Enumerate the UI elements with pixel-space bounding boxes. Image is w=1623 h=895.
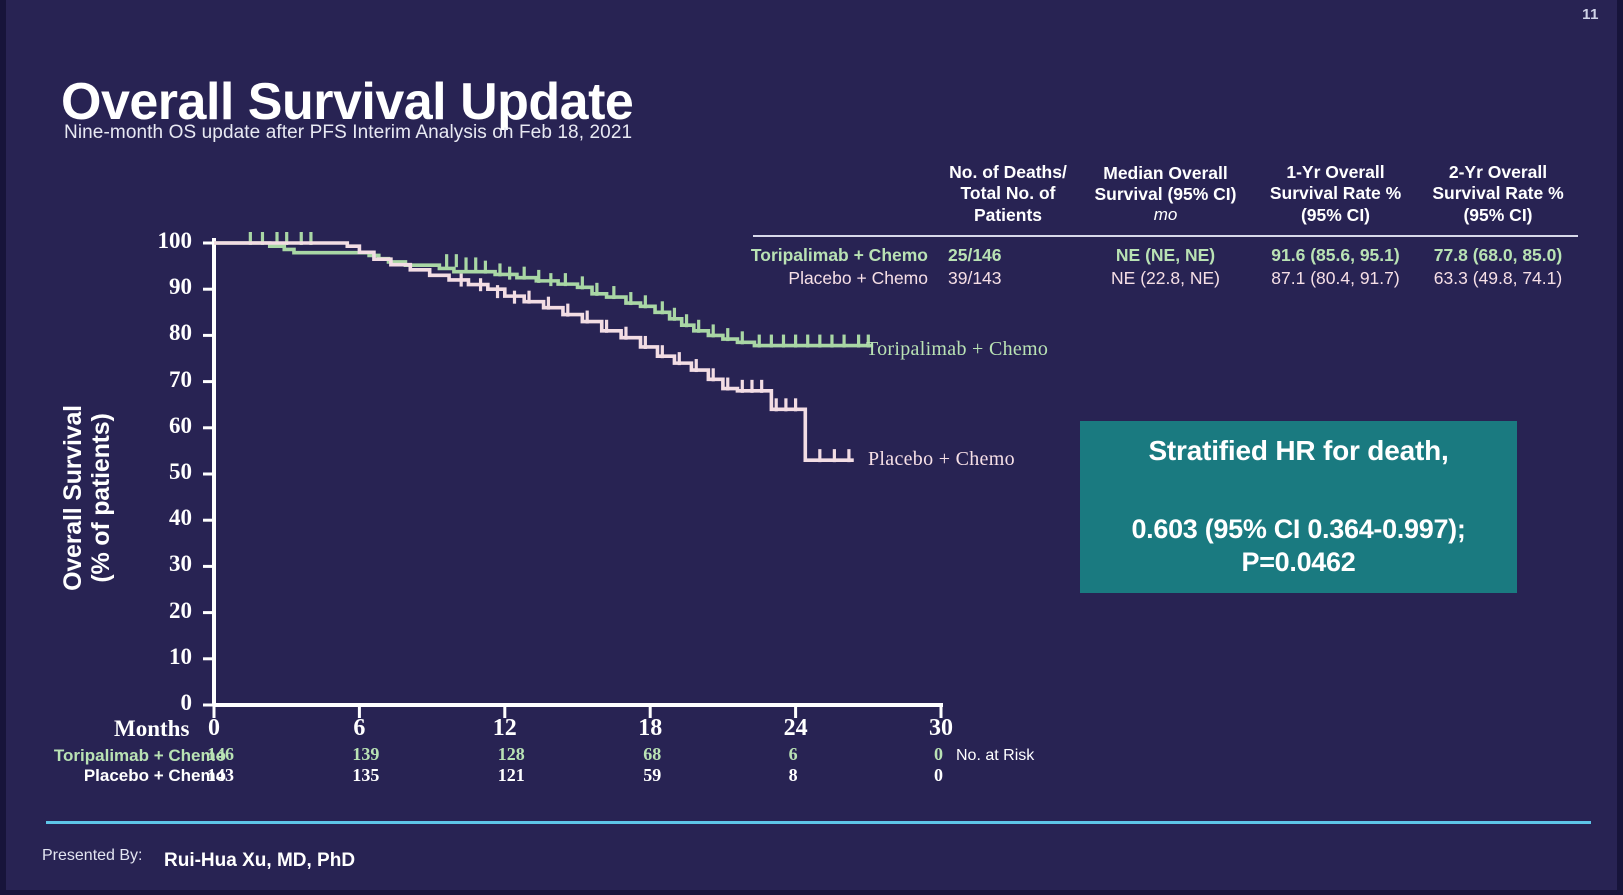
at-risk-value: 146 bbox=[207, 744, 267, 765]
y-axis-tick-label: 40 bbox=[134, 505, 192, 531]
summary-header-median-line1: Median Overall bbox=[1103, 163, 1228, 183]
x-axis-tick-label: 6 bbox=[329, 715, 389, 742]
y-axis-tick-label: 10 bbox=[134, 644, 192, 670]
slide-number: 11 bbox=[1582, 6, 1599, 23]
hr-headline: Stratified HR for death, bbox=[1148, 435, 1448, 467]
summary-row-median: NE (NE, NE) bbox=[1078, 244, 1253, 267]
at-risk-value: 128 bbox=[498, 744, 558, 765]
x-axis-tick-label: 24 bbox=[766, 715, 826, 742]
y-axis-tick-label: 20 bbox=[134, 598, 192, 624]
presenter-name: Rui-Hua Xu, MD, PhD bbox=[164, 850, 355, 872]
at-risk-value: 0 bbox=[934, 765, 994, 786]
y-axis-tick-label: 0 bbox=[134, 690, 192, 716]
at-risk-value: 59 bbox=[643, 765, 703, 786]
y-axis-tick-label: 30 bbox=[134, 551, 192, 577]
y-axis-title-line2: (% of patients) bbox=[87, 413, 115, 582]
summary-row-1yr: 87.1 (80.4, 91.7) bbox=[1253, 267, 1418, 290]
curve-label-toripalimab: Toripalimab + Chemo bbox=[866, 338, 1048, 361]
summary-row-2yr: 77.8 (68.0, 85.0) bbox=[1418, 244, 1578, 267]
presented-by-label: Presented By: bbox=[42, 847, 143, 865]
y-axis-tick-label: 80 bbox=[134, 320, 192, 346]
summary-row-median: NE (22.8, NE) bbox=[1078, 267, 1253, 290]
at-risk-value: 143 bbox=[207, 765, 267, 786]
y-axis-tick-label: 100 bbox=[134, 228, 192, 254]
curve-label-placebo: Placebo + Chemo bbox=[868, 448, 1015, 471]
summary-header-2yr-line1: 2-Yr Overall bbox=[1449, 162, 1547, 182]
y-axis-title-line1: Overall Survival bbox=[59, 405, 87, 591]
at-risk-value: 139 bbox=[352, 744, 412, 765]
x-axis-title: Months bbox=[114, 716, 189, 742]
summary-header-median: Median Overall Survival (95% CI) mo bbox=[1078, 163, 1253, 226]
slide-root: 11 Overall Survival Update Nine-month OS… bbox=[0, 0, 1623, 895]
at-risk-row-name-placebo: Placebo + Chemo bbox=[16, 766, 226, 786]
summary-row-1yr: 91.6 (85.6, 95.1) bbox=[1253, 244, 1418, 267]
summary-header-1yr-line1: 1-Yr Overall bbox=[1286, 162, 1384, 182]
at-risk-value: 68 bbox=[643, 744, 703, 765]
at-risk-value: 6 bbox=[789, 744, 849, 765]
kaplan-meier-chart: Overall Survival (% of patients) Months … bbox=[6, 0, 1066, 800]
summary-row-2yr: 63.3 (49.8, 74.1) bbox=[1418, 267, 1578, 290]
footer-divider bbox=[46, 821, 1591, 824]
hr-value-ci: 0.603 (95% CI 0.364-0.997); bbox=[1131, 514, 1465, 544]
summary-header-1yr-line3: (95% CI) bbox=[1301, 205, 1370, 225]
x-axis-tick-label: 12 bbox=[475, 715, 535, 742]
summary-header-2yr-line2: Survival Rate % bbox=[1432, 183, 1563, 203]
y-axis-tick-label: 60 bbox=[134, 413, 192, 439]
stratified-hr-callout: Stratified HR for death, 0.603 (95% CI 0… bbox=[1080, 421, 1517, 593]
hr-value: 0.603 (95% CI 0.364-0.997); P=0.0462 bbox=[1131, 513, 1465, 579]
y-axis-tick-label: 50 bbox=[134, 459, 192, 485]
summary-header-2yr: 2-Yr Overall Survival Rate % (95% CI) bbox=[1418, 162, 1578, 226]
km-plot-svg bbox=[6, 0, 1066, 800]
at-risk-value: 0 bbox=[934, 744, 994, 765]
x-axis-tick-label: 0 bbox=[184, 715, 244, 742]
hr-pvalue: P=0.0462 bbox=[1242, 547, 1356, 577]
at-risk-value: 135 bbox=[352, 765, 412, 786]
summary-header-2yr-line3: (95% CI) bbox=[1463, 205, 1532, 225]
y-axis-tick-label: 70 bbox=[134, 367, 192, 393]
summary-header-1yr: 1-Yr Overall Survival Rate % (95% CI) bbox=[1253, 162, 1418, 226]
summary-header-1yr-line2: Survival Rate % bbox=[1270, 183, 1401, 203]
x-axis-tick-label: 18 bbox=[620, 715, 680, 742]
summary-header-median-line2: Survival (95% CI) bbox=[1095, 184, 1237, 204]
at-risk-value: 121 bbox=[498, 765, 558, 786]
y-axis-title: Overall Survival (% of patients) bbox=[59, 373, 115, 623]
at-risk-row-name-toripalimab: Toripalimab + Chemo bbox=[16, 746, 226, 766]
y-axis-tick-label: 90 bbox=[134, 274, 192, 300]
summary-header-median-unit: mo bbox=[1078, 205, 1253, 226]
x-axis-tick-label: 30 bbox=[911, 715, 971, 742]
at-risk-value: 8 bbox=[789, 765, 849, 786]
